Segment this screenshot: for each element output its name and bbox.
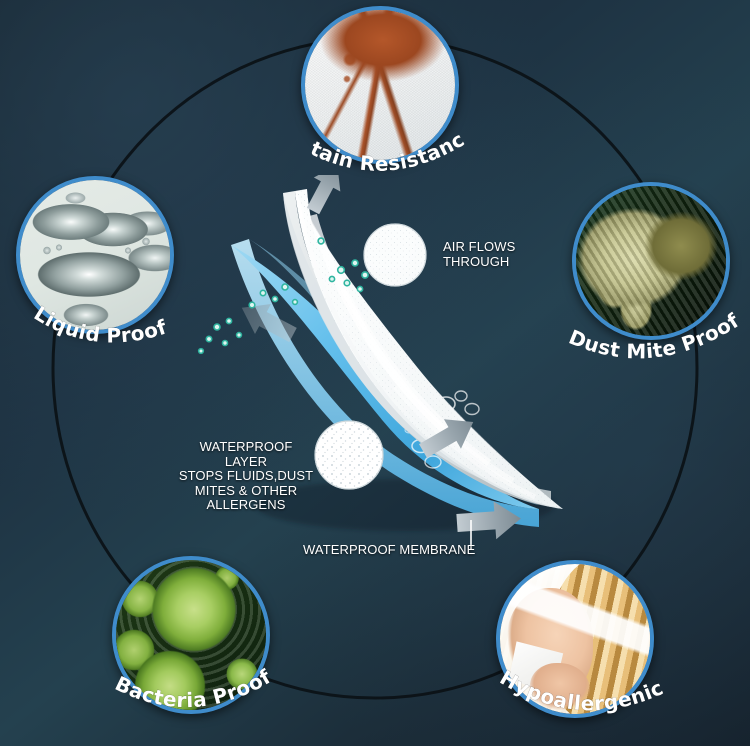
feature-circle-dust-mite-proof[interactable] (572, 182, 730, 340)
feature-circle-liquid-proof[interactable] (16, 176, 174, 334)
waterproof-barrier-magnifier (315, 421, 383, 489)
callout-waterproof-layer: WATERPROOF LAYER STOPS FLUIDS,DUST MITES… (178, 440, 314, 513)
hand-shape (530, 663, 590, 714)
liquid-proof-photo (20, 180, 170, 330)
callout-air-flows-through: AIR FLOWS THROUGH (443, 240, 515, 269)
face-shape (506, 588, 593, 699)
diagram-canvas: Stain Resistance Liquid Proof Dust Mite … (0, 0, 750, 746)
feature-circle-bacteria-proof[interactable] (112, 556, 270, 714)
hypoallergenic-photo (500, 564, 650, 714)
bacteria-proof-photo (116, 560, 266, 710)
stain-resistance-photo (305, 10, 455, 160)
dust-mite-proof-photo (576, 186, 726, 336)
tissue-shape (509, 639, 572, 699)
feature-circle-stain-resistance[interactable] (301, 6, 459, 164)
feature-circle-hypoallergenic[interactable] (496, 560, 654, 718)
callout-waterproof-membrane: WATERPROOF MEMBRANE (303, 543, 475, 558)
hair-shape (540, 560, 654, 718)
air-pore-magnifier (364, 224, 426, 286)
